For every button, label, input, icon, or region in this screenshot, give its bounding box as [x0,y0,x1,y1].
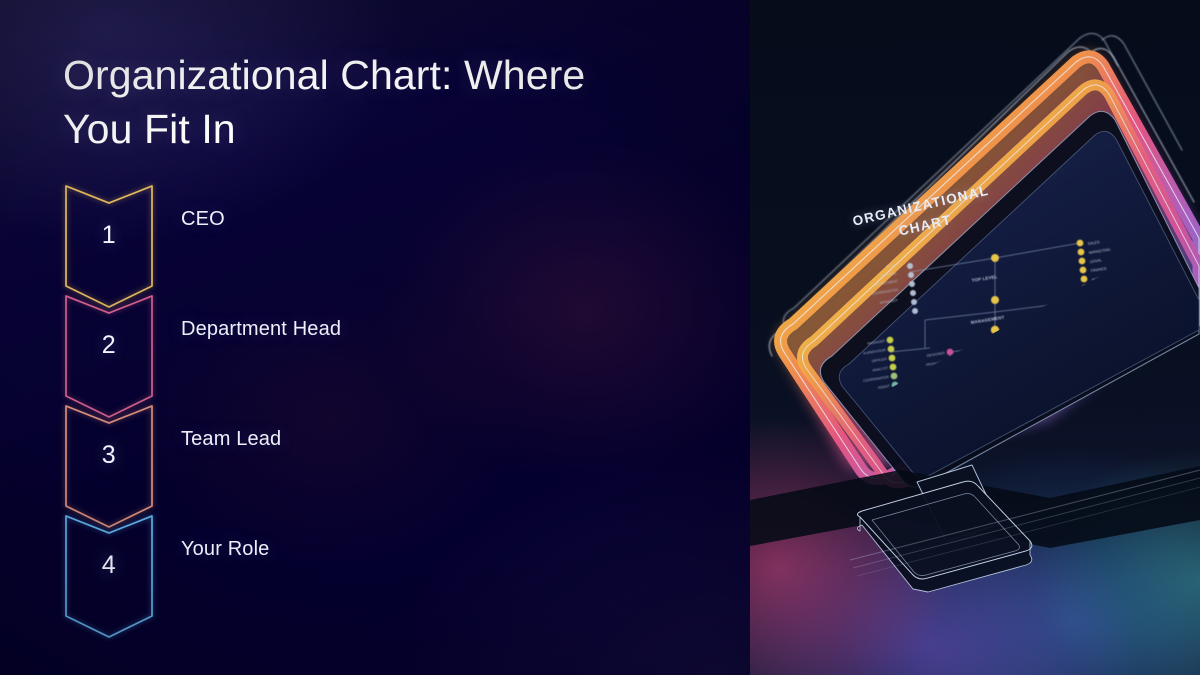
step-number-3: 3 [63,441,155,470]
svg-text:MANAGER: MANAGER [1122,377,1141,384]
svg-text:PROCESS: PROCESS [1124,395,1143,402]
chevron-badge-4: 4 [63,513,155,649]
svg-text:SERVICE: SERVICE [1123,386,1140,393]
step-label-1: CEO [181,208,225,231]
left-content-panel: Organizational Chart: Where You Fit In [0,0,750,675]
step-label-3: Team Lead [181,428,281,451]
list-item-step-2[interactable]: 2 Department Head [63,293,683,403]
svg-text:PLANNING: PLANNING [1070,408,1089,415]
step-number-1: 1 [63,221,155,250]
slide-root: Organizational Chart: Where You Fit In [0,0,1200,675]
monitor-illustration: TOP LEVEL MANAGEMENT STAF [750,0,1200,675]
illustration-panel: TOP LEVEL MANAGEMENT STAF [750,0,1200,675]
list-item-step-1[interactable]: 1 CEO [63,183,683,293]
list-item-step-4[interactable]: 4 Your Role [63,513,683,623]
step-list: 1 CEO [0,0,750,675]
step-number-2: 2 [63,331,155,360]
step-label-2: Department Head [181,318,341,341]
step-label-4: Your Role [181,538,269,561]
list-item-step-3[interactable]: 3 Team Lead [63,403,683,513]
step-number-4: 4 [63,551,155,580]
